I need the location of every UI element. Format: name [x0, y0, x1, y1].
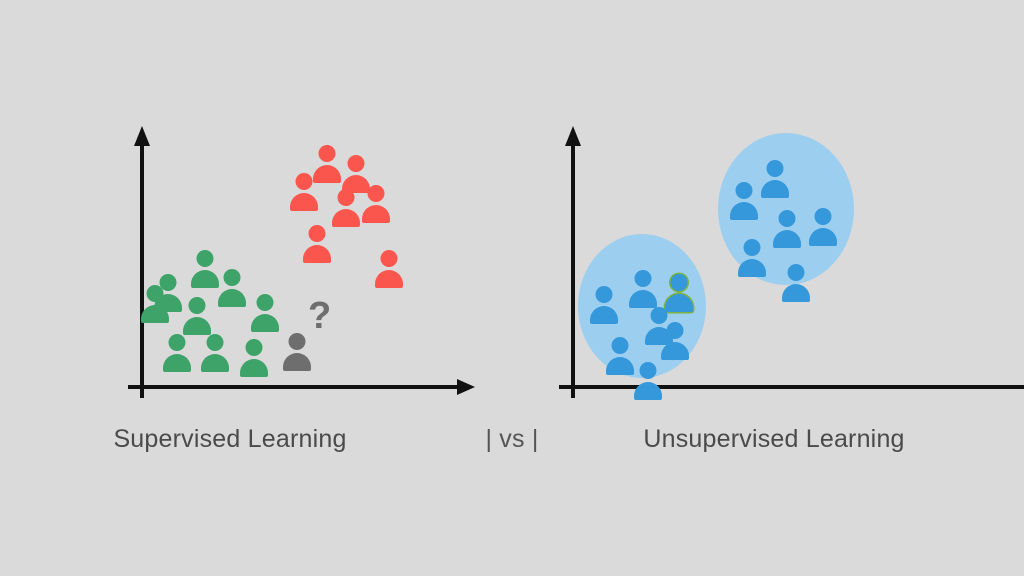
panel-unsupervised-learning	[512, 0, 1024, 576]
person-icon-red	[290, 173, 318, 211]
person-icon-green	[141, 285, 169, 323]
person-icon-blue	[782, 264, 810, 302]
person-icon-green	[218, 269, 246, 307]
person-icon-blue	[761, 160, 789, 198]
person-icon-blue	[773, 210, 801, 248]
person-icon-green	[183, 297, 211, 335]
person-icon-blue	[738, 239, 766, 277]
person-icon-blue	[730, 182, 758, 220]
panel-supervised-learning: ?	[0, 0, 512, 576]
y-axis-arrowhead-icon	[134, 126, 150, 146]
person-icon-red	[332, 189, 360, 227]
slide-root: ?	[0, 0, 1024, 576]
person-icon-blue	[606, 337, 634, 375]
person-icon-green	[191, 250, 219, 288]
caption-unsupervised-learning: Unsupervised Learning	[564, 425, 984, 454]
caption-row: Supervised Learning | vs | Unsupervised …	[0, 425, 1024, 465]
caption-supervised-learning: Supervised Learning	[0, 425, 460, 454]
person-icon-green	[201, 334, 229, 372]
person-icon-green	[240, 339, 268, 377]
person-icon-red	[303, 225, 331, 263]
y-axis-arrowhead-icon	[565, 126, 581, 146]
x-axis-arrowhead-icon	[457, 379, 475, 395]
person-icon-blue	[661, 322, 689, 360]
person-icon-red	[375, 250, 403, 288]
person-icon-blue	[809, 208, 837, 246]
axes-supervised	[0, 0, 512, 576]
person-icon-red	[362, 185, 390, 223]
person-icon-blue	[590, 286, 618, 324]
person-icon-blue	[634, 362, 662, 400]
person-icon-blue	[629, 270, 657, 308]
person-icon-green	[251, 294, 279, 332]
person-icon-unlabeled	[283, 333, 311, 371]
caption-versus-separator: | vs |	[460, 425, 564, 454]
question-mark-annotation: ?	[308, 297, 331, 335]
person-icon-green	[163, 334, 191, 372]
